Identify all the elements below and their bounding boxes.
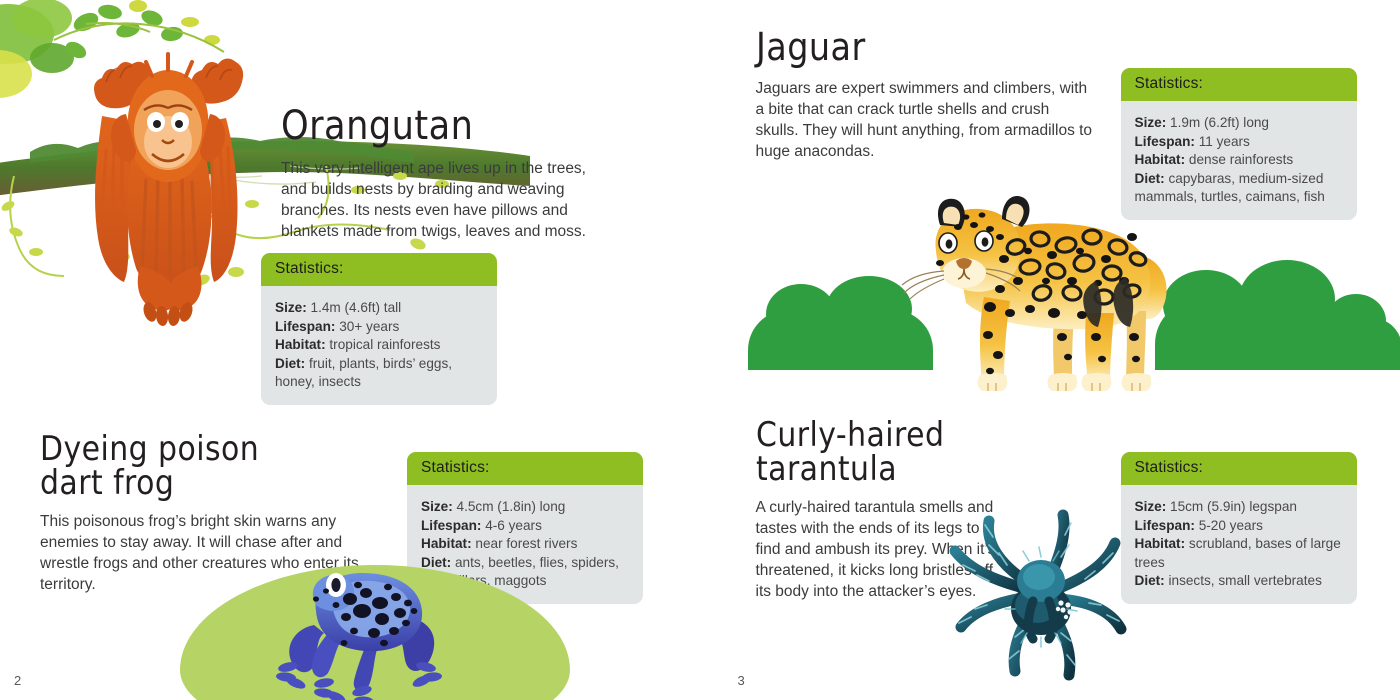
stats-row: Size: 4.5cm (1.8in) long [421,498,629,517]
page-title-jaguar: Jaguar [756,28,1064,66]
stats-key: Diet: [275,356,305,371]
stats-row: Habitat: near forest rivers [421,535,629,554]
left-page: Orangutan This very intelligent ape live… [0,0,700,700]
stats-value: 1.9m (6.2ft) long [1170,115,1269,130]
stats-value: 30+ years [339,319,399,334]
stats-value: insects, small vertebrates [1169,573,1322,588]
stats-row: Size: 15cm (5.9in) legspan [1135,498,1343,517]
stats-card-tarantula: Statistics: Size: 15cm (5.9in) legspan L… [1121,452,1357,604]
page-title-frog: Dyeing poison dart frog [40,432,330,500]
stats-key: Habitat: [421,536,472,551]
stats-value: near forest rivers [475,536,577,551]
stats-key: Size: [1135,499,1167,514]
stats-key: Diet: [1135,171,1165,186]
page-title-tarantula: Curly-haired tarantula [756,418,1038,486]
page-number-right: 3 [738,673,745,688]
stats-heading: Statistics: [261,253,497,286]
stats-heading: Statistics: [1121,68,1357,101]
stats-key: Lifespan: [421,518,481,533]
stats-key: Lifespan: [1135,134,1195,149]
stats-key: Size: [421,499,453,514]
jaguar-illustration [840,185,1180,395]
stats-row: Habitat: tropical rainforests [275,336,483,355]
stats-key: Size: [275,300,307,315]
stats-heading: Statistics: [1121,452,1357,485]
description-jaguar: Jaguars are expert swimmers and climbers… [756,78,1096,162]
stats-row: Habitat: scrubland, bases of large trees [1135,535,1343,572]
stats-value: 1.4m (4.6ft) tall [311,300,402,315]
stats-body: Size: 1.4m (4.6ft) tall Lifespan: 30+ ye… [261,286,497,405]
description-orangutan: This very intelligent ape lives up in th… [281,158,616,242]
stats-value: 11 years [1199,134,1250,149]
stats-key: Habitat: [1135,152,1186,167]
stats-key: Habitat: [1135,536,1186,551]
stats-row: Diet: insects, small vertebrates [1135,572,1343,591]
stats-row: Diet: fruit, plants, birds’ eggs, honey,… [275,355,483,392]
stats-body: Size: 15cm (5.9in) legspan Lifespan: 5-2… [1121,485,1357,604]
stats-heading: Statistics: [407,452,643,485]
stats-key: Habitat: [275,337,326,352]
stats-value: 5-20 years [1199,518,1263,533]
entry-jaguar: Jaguar Jaguars are expert swimmers and c… [756,28,1106,162]
stats-key: Lifespan: [275,319,335,334]
frog-illustration [250,555,520,700]
bush-illustration [1155,300,1355,370]
stats-row: Size: 1.9m (6.2ft) long [1135,114,1343,133]
stats-key: Lifespan: [1135,518,1195,533]
stats-value: tropical rainforests [329,337,440,352]
stats-row: Lifespan: 5-20 years [1135,517,1343,536]
stats-row: Habitat: dense rainforests [1135,151,1343,170]
stats-key: Diet: [1135,573,1165,588]
page-number-left: 2 [14,673,21,688]
stats-row: Size: 1.4m (4.6ft) tall [275,299,483,318]
stats-value: 15cm (5.9in) legspan [1170,499,1297,514]
page-title-orangutan: Orangutan [281,106,580,146]
bush-illustration [1330,318,1400,370]
stats-value: dense rainforests [1189,152,1293,167]
stats-value: 4.5cm (1.8in) long [457,499,566,514]
stats-row: Lifespan: 4-6 years [421,517,629,536]
stats-value: 4-6 years [485,518,542,533]
stats-card-orangutan: Statistics: Size: 1.4m (4.6ft) tall Life… [261,253,497,405]
stats-key: Size: [1135,115,1167,130]
entry-orangutan: Orangutan This very intelligent ape live… [281,106,621,242]
stats-row: Lifespan: 11 years [1135,133,1343,152]
tarantula-illustration [945,505,1135,680]
stats-row: Lifespan: 30+ years [275,318,483,337]
